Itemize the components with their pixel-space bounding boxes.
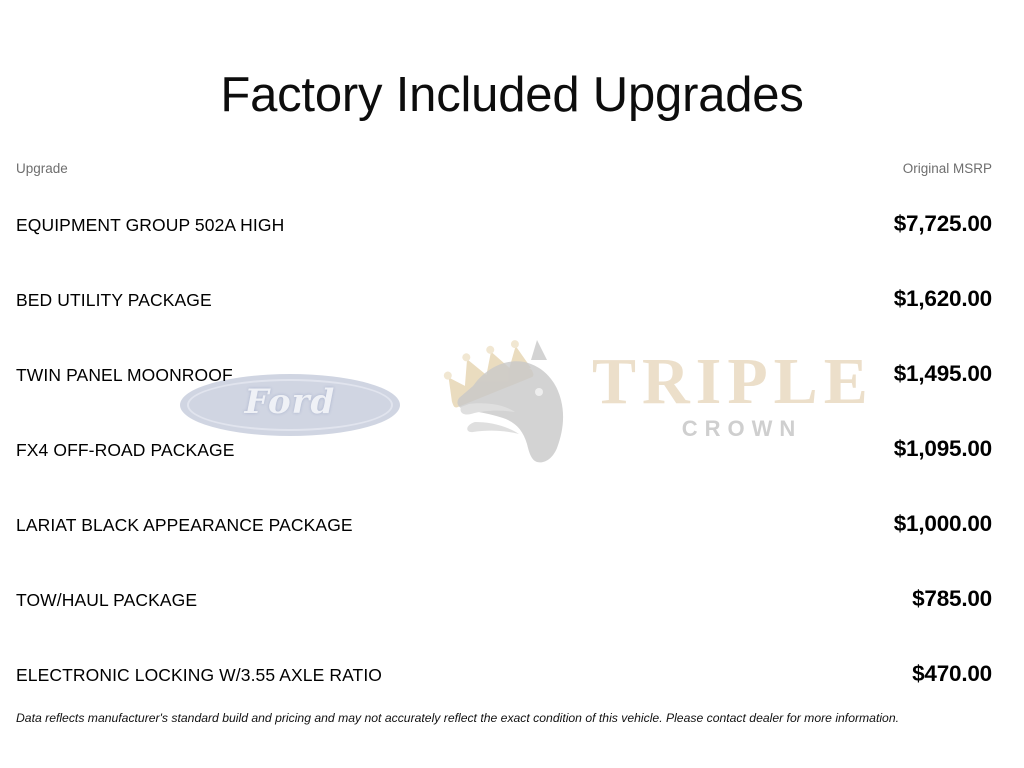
column-header-upgrade: Upgrade: [16, 161, 68, 176]
upgrade-name: BED UTILITY PACKAGE: [16, 290, 212, 311]
upgrade-name: FX4 OFF-ROAD PACKAGE: [16, 440, 235, 461]
table-row: EQUIPMENT GROUP 502A HIGH$7,725.00: [16, 211, 992, 237]
disclaimer-text: Data reflects manufacturer's standard bu…: [16, 711, 992, 727]
table-row: TWIN PANEL MOONROOF$1,495.00: [16, 361, 992, 387]
upgrade-name: LARIAT BLACK APPEARANCE PACKAGE: [16, 515, 353, 536]
table-row: TOW/HAUL PACKAGE$785.00: [16, 586, 992, 612]
upgrade-name: ELECTRONIC LOCKING W/3.55 AXLE RATIO: [16, 665, 382, 686]
table-row: ELECTRONIC LOCKING W/3.55 AXLE RATIO$470…: [16, 661, 992, 687]
page-title: Factory Included Upgrades: [0, 70, 1024, 121]
upgrade-price: $1,095.00: [894, 436, 992, 462]
column-header-price: Original MSRP: [903, 161, 992, 176]
table-row: BED UTILITY PACKAGE$1,620.00: [16, 286, 992, 312]
content-layer: Factory Included Upgrades Upgrade Origin…: [0, 0, 1024, 768]
upgrade-name: TOW/HAUL PACKAGE: [16, 590, 197, 611]
upgrade-price: $1,000.00: [894, 511, 992, 537]
upgrade-price: $785.00: [912, 586, 992, 612]
table-row: FX4 OFF-ROAD PACKAGE$1,095.00: [16, 436, 992, 462]
upgrade-price: $1,620.00: [894, 286, 992, 312]
upgrades-page: Ford: [0, 0, 1024, 768]
upgrade-name: EQUIPMENT GROUP 502A HIGH: [16, 215, 284, 236]
upgrade-price: $470.00: [912, 661, 992, 687]
upgrade-name: TWIN PANEL MOONROOF: [16, 365, 233, 386]
upgrade-price: $1,495.00: [894, 361, 992, 387]
table-row: LARIAT BLACK APPEARANCE PACKAGE$1,000.00: [16, 511, 992, 537]
upgrade-price: $7,725.00: [894, 211, 992, 237]
table-header-row: Upgrade Original MSRP: [16, 161, 992, 176]
